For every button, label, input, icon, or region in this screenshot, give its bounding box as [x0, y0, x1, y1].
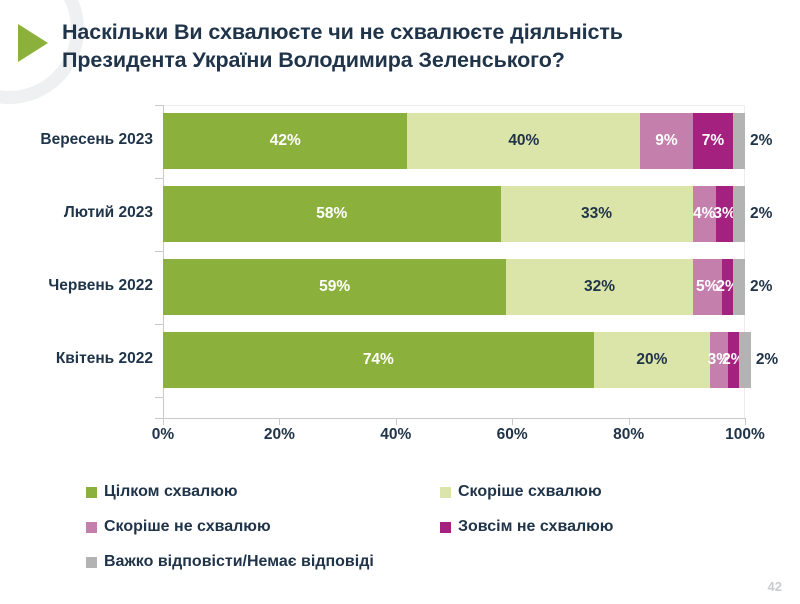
play-triangle-icon	[18, 24, 48, 62]
x-axis-tick	[396, 418, 397, 425]
bar-segment: 33%	[501, 186, 693, 242]
bar-segment-value: 2%	[745, 186, 772, 242]
x-axis-tick-label: 20%	[239, 426, 319, 444]
legend-item[interactable]: Скоріше не схвалюю	[86, 519, 271, 535]
x-axis-tick	[279, 418, 280, 425]
bar-segment	[733, 186, 745, 242]
x-axis-tick	[629, 418, 630, 425]
bar-segment: 74%	[163, 332, 594, 388]
x-axis-line	[163, 418, 746, 419]
slide-header: Наскільки Ви схвалюєте чи не схвалюєте д…	[0, 0, 800, 96]
x-axis-tick-label: 0%	[123, 426, 203, 444]
legend-label: Важко відповісти/Немає відповіді	[104, 554, 374, 570]
bar-segment-value: 20%	[636, 351, 667, 369]
legend-swatch-icon	[86, 522, 97, 533]
x-axis-tick	[745, 418, 746, 425]
y-axis-tick	[155, 105, 163, 106]
bar-segment-value: 74%	[363, 351, 394, 369]
x-axis-tick	[163, 418, 164, 425]
bar-segment: 59%	[163, 259, 506, 315]
legend-label: Скоріше не схвалюю	[104, 519, 271, 535]
bar-segment: 42%	[163, 113, 407, 169]
bar-row: 42%40%9%7%2%	[163, 113, 745, 169]
stacked-bar-chart: Вересень 2023Лютий 2023Червень 2022Квіте…	[0, 100, 800, 440]
bar-segment: 2%	[728, 332, 740, 388]
bar-segment-value: 5%	[696, 278, 718, 296]
legend-item[interactable]: Важко відповісти/Немає відповіді	[86, 554, 374, 570]
page-title-line-2: Президента України Володимира Зеленськог…	[62, 46, 767, 74]
bar-segment-value: 4%	[693, 205, 715, 223]
bar-segment-value: 2%	[751, 332, 778, 388]
legend-swatch-icon	[86, 487, 97, 498]
x-axis-tick-label: 100%	[705, 426, 785, 444]
bar-segment-value: 2%	[745, 259, 772, 315]
legend-label: Зовсім не схвалюю	[458, 519, 613, 535]
bar-segment-value: 2%	[745, 113, 772, 169]
bar-segment-value: 59%	[319, 278, 350, 296]
bar-row: 58%33%4%3%2%	[163, 186, 745, 242]
y-axis-tick	[155, 251, 163, 252]
x-axis-tick-label: 60%	[472, 426, 552, 444]
y-axis-tick	[155, 418, 163, 419]
legend-swatch-icon	[440, 487, 451, 498]
legend-item[interactable]: Зовсім не схвалюю	[440, 519, 613, 535]
bar-segment: 20%	[594, 332, 710, 388]
category-label: Квітень 2022	[3, 350, 153, 368]
category-label: Червень 2022	[3, 277, 153, 295]
bar-segment: 2%	[722, 259, 734, 315]
page-title: Наскільки Ви схвалюєте чи не схвалюєте д…	[62, 18, 767, 75]
bar-segment-value: 9%	[655, 132, 677, 150]
x-axis-tick-label: 40%	[356, 426, 436, 444]
bar-segment: 4%	[693, 186, 716, 242]
category-label: Вересень 2023	[3, 131, 153, 149]
page-number: 42	[768, 579, 782, 594]
legend-item[interactable]: Цілком схвалюю	[86, 484, 238, 500]
x-axis-tick-label: 80%	[589, 426, 669, 444]
bar-segment: 40%	[407, 113, 640, 169]
legend-label: Скоріше схвалюю	[458, 484, 602, 500]
bar-segment: 32%	[506, 259, 692, 315]
legend-label: Цілком схвалюю	[104, 484, 238, 500]
bar-segment-value: 7%	[702, 132, 724, 150]
category-label: Лютий 2023	[3, 204, 153, 222]
bar-segment-value: 32%	[584, 278, 615, 296]
bar-segment-value: 58%	[316, 205, 347, 223]
y-axis-tick	[155, 324, 163, 325]
bar-segment: 7%	[693, 113, 734, 169]
bar-segment: 58%	[163, 186, 501, 242]
bar-segment: 3%	[716, 186, 733, 242]
legend-swatch-icon	[440, 522, 451, 533]
bar-segment-value: 40%	[508, 132, 539, 150]
bar-segment: 9%	[640, 113, 692, 169]
bar-segment	[733, 113, 745, 169]
chart-legend: Цілком схвалююСкоріше схвалююСкоріше не …	[0, 470, 800, 580]
bar-segment-value: 42%	[270, 132, 301, 150]
y-axis-tick	[155, 397, 163, 398]
bar-row: 74%20%3%2%2%	[163, 332, 745, 388]
bar-segment	[733, 259, 745, 315]
page-title-line-1: Наскільки Ви схвалюєте чи не схвалюєте д…	[62, 18, 767, 46]
legend-item[interactable]: Скоріше схвалюю	[440, 484, 602, 500]
bar-row: 59%32%5%2%2%	[163, 259, 745, 315]
x-axis-tick	[512, 418, 513, 425]
bar-segment	[739, 332, 751, 388]
y-axis-tick	[155, 178, 163, 179]
bar-segment-value: 33%	[581, 205, 612, 223]
legend-swatch-icon	[86, 557, 97, 568]
